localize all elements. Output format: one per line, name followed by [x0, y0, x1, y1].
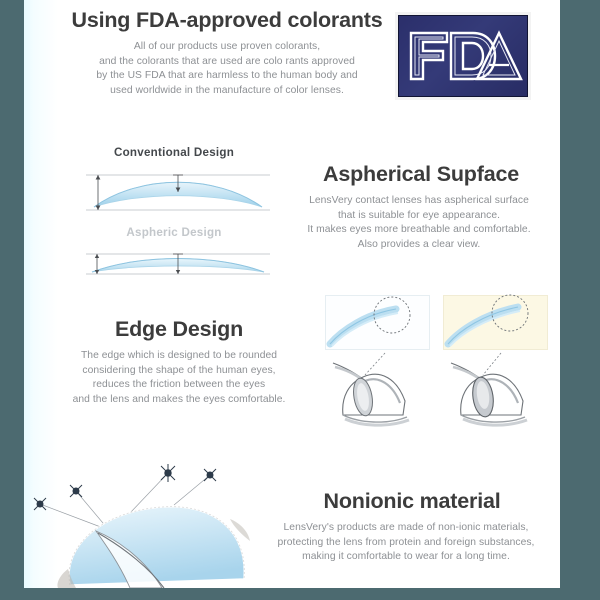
aspherical-body-line-4: Also provides a clear view.: [274, 238, 560, 253]
nonionic-body-line-1: LensVery's products are made of non-ioni…: [252, 521, 560, 536]
edge-body-line-4: and the lens and makes the eyes comforta…: [28, 393, 330, 408]
fda-logo-lettermark: [403, 25, 523, 87]
molecule-icon-2: [70, 485, 82, 497]
eye-cross-section-left: [325, 353, 430, 431]
eye-cross-section-right: [443, 353, 548, 431]
aspherical-body-line-2: that is suitable for eye appearance.: [274, 209, 560, 224]
aspherical-body-line-1: LensVery contact lenses has aspherical s…: [274, 194, 560, 209]
lens-edge-closeup-right: [444, 296, 547, 349]
nonionic-section-title: Nonionic material: [264, 489, 560, 514]
nonionic-body-line-3: making it comfortable to wear for a long…: [252, 550, 560, 565]
aspherical-section-body: LensVery contact lenses has aspherical s…: [274, 194, 560, 252]
molecule-icon-3: [161, 464, 175, 482]
edge-section-title: Edge Design: [44, 317, 314, 342]
aspherical-body-line-3: It makes eyes more breathable and comfor…: [274, 223, 560, 238]
fda-logo: [395, 12, 531, 100]
edge-zoom-panel-right: [443, 295, 548, 350]
fda-section-body: All of our products use proven colorants…: [48, 40, 406, 98]
edge-body-line-1: The edge which is designed to be rounded: [28, 349, 330, 364]
conventional-design-label: Conventional Design: [74, 146, 274, 159]
nonionic-body-line-2: protecting the lens from protein and for…: [252, 536, 560, 551]
eye-diagram-right: [443, 353, 548, 431]
edge-body-line-2: considering the shape of the human eyes,: [28, 364, 330, 379]
section-aspherical-surface: Conventional Design: [24, 122, 560, 287]
fda-body-line-4: used worldwide in the manufacture of col…: [48, 84, 406, 99]
aspherical-section-title: Aspherical Supface: [282, 162, 560, 187]
content-canvas: Using FDA-approved colorants All of our …: [24, 0, 560, 588]
conventional-design-diagram: [80, 166, 276, 218]
fda-body-line-2: and the colorants that are used are colo…: [48, 55, 406, 70]
lens-edge-closeup-left: [326, 296, 429, 349]
fda-logo-plate: [398, 15, 528, 97]
aspheric-design-label: Aspheric Design: [74, 226, 274, 239]
infographic-page: Using FDA-approved colorants All of our …: [0, 0, 600, 600]
molecule-icon-1: [34, 498, 46, 510]
nonionic-lens-illustration: [34, 449, 284, 588]
fda-body-line-1: All of our products use proven colorants…: [48, 40, 406, 55]
edge-zoom-panel-left: [325, 295, 430, 350]
section-nonionic-material: Nonionic material LensVery's products ar…: [24, 439, 560, 588]
fda-body-line-3: by the US FDA that are harmless to the h…: [48, 69, 406, 84]
aspheric-design-diagram: [80, 246, 276, 286]
molecule-icon-4: [204, 469, 216, 481]
fda-section-title: Using FDA-approved colorants: [62, 8, 392, 33]
edge-section-body: The edge which is designed to be rounded…: [28, 349, 330, 407]
eye-diagram-left: [325, 353, 430, 431]
nonionic-section-body: LensVery's products are made of non-ioni…: [252, 521, 560, 565]
section-fda-colorants: Using FDA-approved colorants All of our …: [24, 0, 560, 122]
edge-body-line-3: reduces the friction between the eyes: [28, 378, 330, 393]
section-edge-design: Edge Design The edge which is designed t…: [24, 287, 560, 439]
